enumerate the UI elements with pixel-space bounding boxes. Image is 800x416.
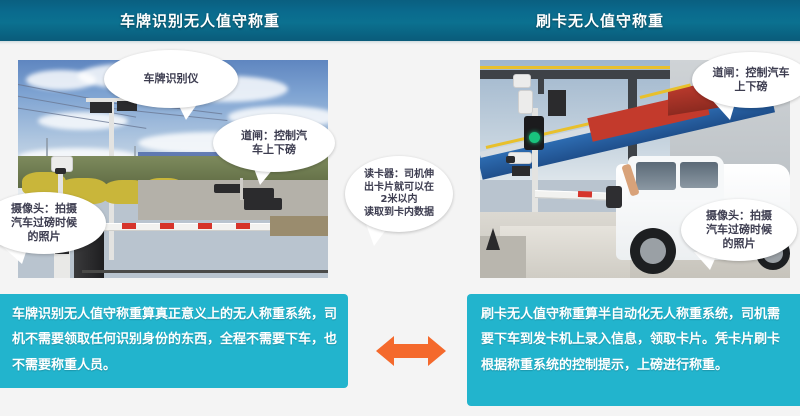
description-text-left: 车牌识别无人值守称重算真正意义上的无人称重系统，司机不需要领取任何识别身份的东西…: [12, 307, 337, 373]
double-arrow-horizontal-icon: [376, 334, 446, 368]
antenna-box: [518, 90, 533, 114]
roadside-barrier: [214, 184, 242, 193]
description-text-right: 刷卡无人值守称重算半自动化无人称重系统，司机需要下车到发卡机上录入信息，领取卡片…: [481, 307, 780, 373]
overhead-beam: [480, 70, 670, 79]
gantry-hanger: [538, 78, 544, 94]
truck-window: [636, 162, 676, 190]
camera-lens: [506, 156, 515, 163]
weather-sensor: [513, 74, 531, 88]
comparison-arrow: [376, 334, 446, 368]
page-title-left: 车牌识别无人值守称重: [120, 10, 280, 31]
camera-lens: [55, 168, 66, 174]
lpr-camera-box: [90, 102, 112, 113]
page-title-right: 刷卡无人值守称重: [536, 10, 664, 31]
description-box-right: 刷卡无人值守称重算半自动化无人称重系统，司机需要下车到发卡机上录入信息，领取卡片…: [467, 294, 800, 406]
header-cell-left: 车牌识别无人值守称重: [0, 0, 400, 41]
callout-gate-barrier-right: 道闸：控制汽车 上下磅: [692, 52, 800, 108]
card-reader-box: [512, 166, 530, 176]
callout-text: 读卡器：司机伸 出卡片就可以在 2米以内 读取到卡内数据: [351, 169, 447, 219]
roadside-barrier: [244, 198, 282, 210]
header-divider: [0, 41, 800, 45]
gate-arm-stripe: [122, 223, 136, 229]
hanging-equipment: [548, 90, 566, 116]
cloud: [38, 112, 128, 130]
header-cell-right: 刷卡无人值守称重: [400, 0, 800, 41]
gate-arm-stripe: [198, 223, 212, 229]
callout-text: 道闸：控制汽车 上下磅: [698, 66, 800, 94]
callout-camera-right: 摄像头：拍摄 汽车过磅时候 的照片: [681, 199, 797, 261]
callout-text: 道闸：控制汽 车上下磅: [219, 129, 329, 157]
callout-card-reader: 读卡器：司机伸 出卡片就可以在 2米以内 读取到卡内数据: [345, 156, 453, 232]
callout-text: 摄像头：拍摄 汽车过磅时候 的照片: [687, 209, 791, 250]
roadside-post: [240, 178, 243, 200]
description-box-left: 车牌识别无人值守称重算真正意义上的无人称重系统，司机不需要领取任何识别身份的东西…: [0, 294, 348, 388]
truck-window-rear: [680, 162, 718, 188]
gate-arm-stripe: [578, 191, 592, 197]
gate-arm-stripe: [236, 223, 250, 229]
safety-rail: [480, 66, 670, 69]
side-mirror: [606, 186, 622, 208]
callout-lpr-device: 车牌识别仪: [104, 50, 238, 108]
callout-text: 车牌识别仪: [110, 72, 232, 86]
truck-wheel: [630, 228, 676, 274]
weighbridge-seam: [82, 270, 328, 273]
header-bar: 车牌识别无人值守称重 刷卡无人值守称重: [0, 0, 800, 41]
gate-arm-stripe: [160, 223, 174, 229]
weighbridge-edge: [270, 216, 328, 236]
callout-gate-barrier-left: 道闸：控制汽 车上下磅: [213, 114, 335, 172]
traffic-light-green-lamp: [529, 132, 540, 143]
curb: [480, 236, 526, 278]
callout-text: 摄像头：拍摄 汽车过磅时候 的照片: [0, 202, 100, 243]
